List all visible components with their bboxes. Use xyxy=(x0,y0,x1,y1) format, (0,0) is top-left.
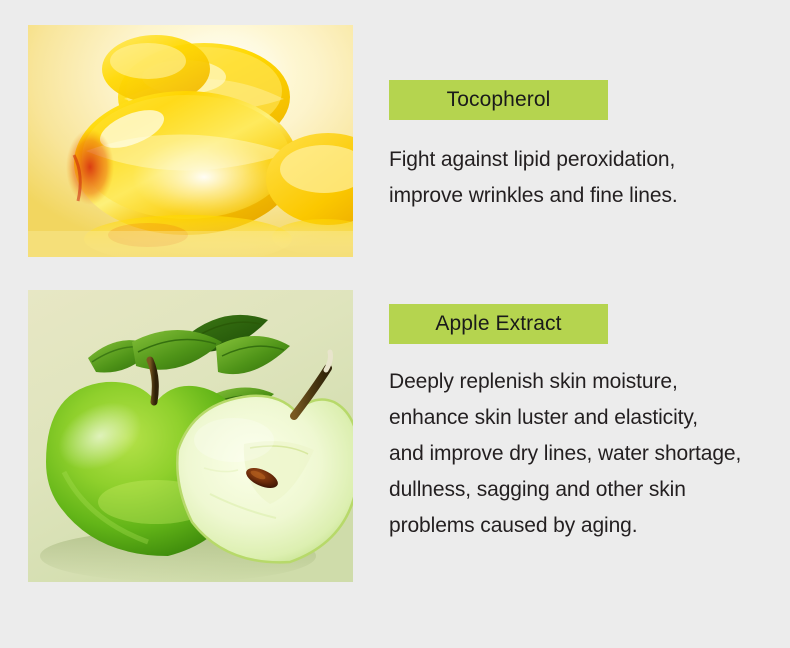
green-apple-illustration xyxy=(28,290,353,582)
tocopherol-text-column: Tocopherol Fight against lipid peroxidat… xyxy=(389,25,774,214)
heading-chip-tocopherol: Tocopherol xyxy=(389,80,608,120)
ingredient-infographic: Tocopherol Fight against lipid peroxidat… xyxy=(0,0,790,648)
tocopherol-softgel-capsules-photo xyxy=(28,25,353,257)
heading-chip-apple: Apple Extract xyxy=(389,304,608,344)
ingredient-block-apple: Apple Extract Deeply replenish skin mois… xyxy=(0,290,790,582)
apple-extract-green-apple-photo xyxy=(28,290,353,582)
body-text-tocopherol: Fight against lipid peroxidation, improv… xyxy=(389,142,774,214)
softgel-capsules-illustration xyxy=(28,25,353,257)
body-text-apple: Deeply replenish skin moisture, enhance … xyxy=(389,364,774,544)
apple-text-column: Apple Extract Deeply replenish skin mois… xyxy=(389,290,774,544)
ingredient-block-tocopherol: Tocopherol Fight against lipid peroxidat… xyxy=(0,25,790,257)
